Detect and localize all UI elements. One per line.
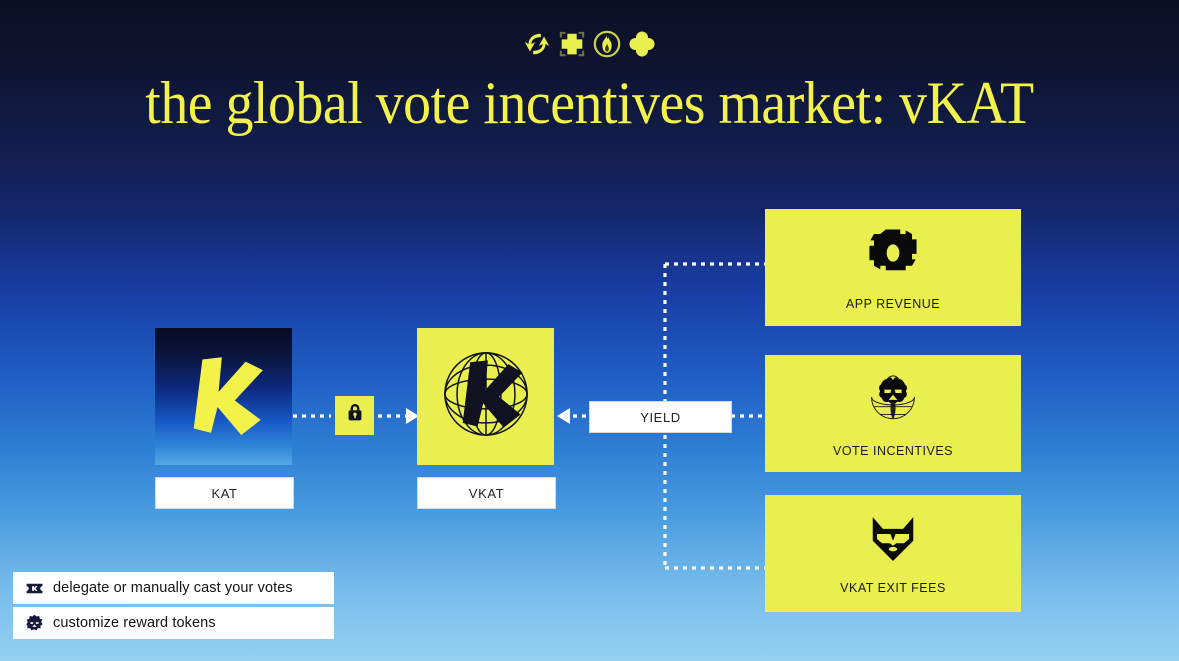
legend-item-rewards: customize reward tokens (13, 607, 334, 639)
kat-token-box[interactable] (155, 328, 292, 465)
lock-icon (344, 402, 366, 429)
app-revenue-label: APP REVENUE (846, 297, 940, 311)
legend-rewards-text: customize reward tokens (53, 615, 216, 631)
kat-k-logo-icon (170, 340, 278, 453)
vote-incentives-label: VOTE INCENTIVES (833, 444, 953, 458)
top-icon-row (0, 27, 1179, 61)
legend-item-delegate: delegate or manually cast your votes (13, 572, 334, 604)
vkat-token-box[interactable] (417, 328, 554, 465)
swirl-arrows-icon (522, 29, 552, 59)
cat-face-icon (866, 512, 920, 571)
gear-icon (864, 224, 922, 287)
flame-circle-icon (592, 29, 622, 59)
vkat-exit-fees-label: VKAT EXIT FEES (840, 581, 946, 595)
yield-label: YIELD (589, 401, 732, 433)
ticket-k-icon (25, 579, 44, 598)
mask-globe-icon (863, 369, 923, 434)
slide-canvas: the global vote incentives market: vKAT … (0, 0, 1179, 661)
app-revenue-box[interactable]: APP REVENUE (765, 209, 1021, 326)
clover-icon (627, 29, 657, 59)
gear-face-icon (25, 614, 44, 633)
vkat-globe-k-icon (430, 338, 542, 455)
lock-badge[interactable] (335, 396, 374, 435)
kat-label: KAT (155, 477, 294, 509)
legend-delegate-text: delegate or manually cast your votes (53, 580, 293, 596)
page-title: the global vote incentives market: vKAT (41, 70, 1137, 136)
vkat-exit-fees-box[interactable]: VKAT EXIT FEES (765, 495, 1021, 612)
vkat-label: VKAT (417, 477, 556, 509)
bracket-cross-icon (557, 29, 587, 59)
vote-incentives-box[interactable]: VOTE INCENTIVES (765, 355, 1021, 472)
